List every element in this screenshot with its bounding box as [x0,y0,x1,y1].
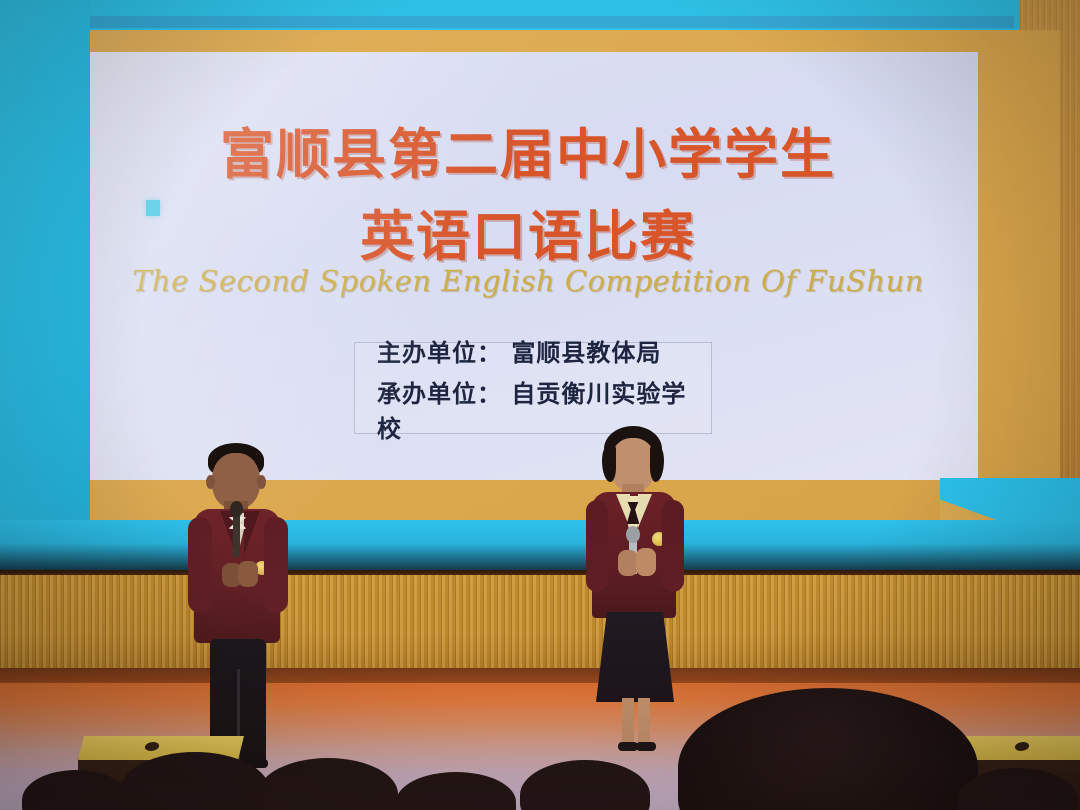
boy-lapel-right [244,511,260,555]
girl-arm-left [586,500,608,592]
girl-arm-right [662,500,684,592]
girl-shoe-left [618,742,638,751]
girl-shoe-right [636,742,656,751]
organizer-info-box: 主办单位： 富顺县教体局 承办单位： 自贡衡川实验学校 [354,342,712,434]
boy-hand-right [238,561,258,587]
girl-leg-right [638,698,650,746]
slide-title-chinese-line2: 英语口语比赛 [78,192,978,271]
photo-scene: 富顺县第二届中小学学生 英语口语比赛 The Second Spoken Eng… [0,0,1080,810]
girl-hair-braid-right [650,446,664,482]
boy-ear-left [206,475,215,489]
girl-hair-braid-left [602,446,616,482]
blue-square-marker-icon [146,200,160,216]
presentation-slide: 富顺县第二届中小学学生 英语口语比赛 The Second Spoken Eng… [78,52,978,480]
screen-frame-left-fill [0,0,90,578]
slide-subtitle-english: The Second Spoken English Competition Of… [78,264,978,298]
boy-arm-left [188,517,212,613]
girl-skirt [596,612,674,702]
girl-hand-left [618,550,638,576]
boy-microphone-body [233,515,240,557]
female-student-host [582,424,694,754]
wood-wall-panel [0,575,1080,683]
girl-leg-left [622,698,634,746]
slide-title-chinese-line1: 富顺县第二届中小学学生 [78,110,978,189]
girl-hand-right [636,548,656,576]
boy-arm-right [264,517,288,613]
boy-microphone-icon [230,501,243,517]
boy-ear-right [257,475,266,489]
male-student-host [186,443,298,768]
organizer-row-host: 主办单位： 富顺县教体局 [377,333,711,368]
girl-microphone-icon [626,526,640,543]
girl-collar-right [638,494,652,528]
